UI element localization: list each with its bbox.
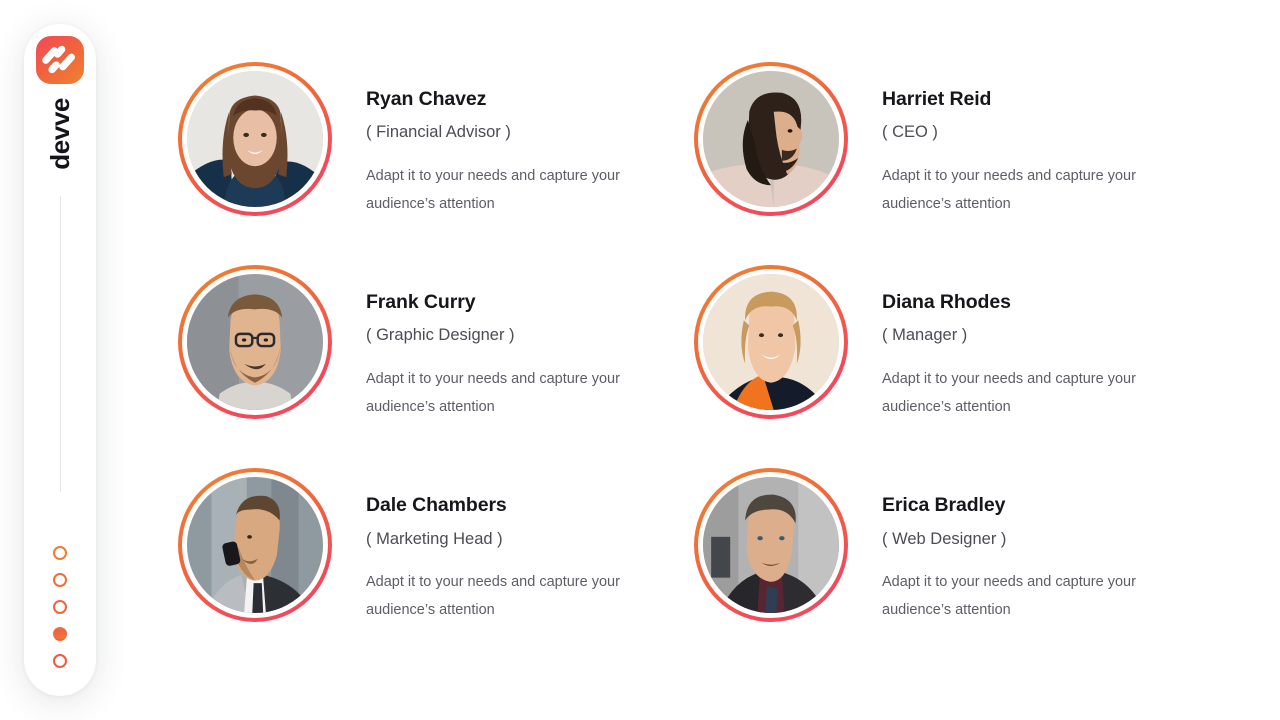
avatar-photo-dale-chambers [187, 477, 323, 613]
avatar-ring [694, 62, 848, 216]
brand-name: devve [47, 98, 73, 170]
avatar-gap [698, 269, 844, 415]
sidebar-rail: devve [24, 24, 96, 696]
member-info: Dale Chambers ( Marketing Head ) Adapt i… [366, 468, 666, 625]
member-info: Ryan Chavez ( Financial Advisor ) Adapt … [366, 62, 666, 219]
member-description: Adapt it to your needs and capture your … [882, 163, 1182, 219]
member-info: Frank Curry ( Graphic Designer ) Adapt i… [366, 265, 666, 422]
member-name: Diana Rhodes [882, 291, 1182, 313]
pagination-dot-2[interactable] [53, 573, 67, 587]
avatar-ring [694, 265, 848, 419]
member-role: ( Marketing Head ) [366, 530, 666, 549]
avatar-photo-ryan-chavez [187, 71, 323, 207]
team-member-card[interactable]: Diana Rhodes ( Manager ) Adapt it to you… [694, 265, 1210, 422]
avatar-ring [178, 265, 332, 419]
member-info: Harriet Reid ( CEO ) Adapt it to your ne… [882, 62, 1182, 219]
team-member-card[interactable]: Erica Bradley ( Web Designer ) Adapt it … [694, 468, 1210, 625]
member-info: Diana Rhodes ( Manager ) Adapt it to you… [882, 265, 1182, 422]
member-description: Adapt it to your needs and capture your … [882, 569, 1182, 625]
avatar-ring [178, 468, 332, 622]
member-role: ( Manager ) [882, 326, 1182, 345]
member-description: Adapt it to your needs and capture your … [882, 366, 1182, 422]
avatar-photo-frank-curry [187, 274, 323, 410]
avatar-gap [182, 269, 328, 415]
member-description: Adapt it to your needs and capture your … [366, 366, 666, 422]
pagination-dot-5[interactable] [53, 654, 67, 668]
team-member-card[interactable]: Frank Curry ( Graphic Designer ) Adapt i… [178, 265, 694, 422]
pagination-dots [53, 546, 67, 668]
avatar-photo-diana-rhodes [703, 274, 839, 410]
member-info: Erica Bradley ( Web Designer ) Adapt it … [882, 468, 1182, 625]
team-members-grid: Ryan Chavez ( Financial Advisor ) Adapt … [178, 62, 1258, 625]
vertical-divider [60, 196, 61, 492]
member-name: Dale Chambers [366, 494, 666, 516]
avatar-gap [182, 472, 328, 618]
member-role: ( Financial Advisor ) [366, 123, 666, 142]
member-name: Frank Curry [366, 291, 666, 313]
member-name: Ryan Chavez [366, 88, 666, 110]
avatar-gap [698, 472, 844, 618]
pagination-dot-4-active[interactable] [53, 627, 67, 641]
avatar-photo-erica-bradley [703, 477, 839, 613]
avatar-gap [698, 66, 844, 212]
member-name: Erica Bradley [882, 494, 1182, 516]
avatar-photo-harriet-reid [703, 71, 839, 207]
devve-logo-icon[interactable] [36, 36, 84, 84]
pagination-dot-3[interactable] [53, 600, 67, 614]
member-role: ( Graphic Designer ) [366, 326, 666, 345]
avatar-ring [694, 468, 848, 622]
member-description: Adapt it to your needs and capture your … [366, 163, 666, 219]
member-role: ( Web Designer ) [882, 530, 1182, 549]
member-role: ( CEO ) [882, 123, 1182, 142]
team-member-card[interactable]: Ryan Chavez ( Financial Advisor ) Adapt … [178, 62, 694, 219]
team-member-card[interactable]: Harriet Reid ( CEO ) Adapt it to your ne… [694, 62, 1210, 219]
pagination-dot-1[interactable] [53, 546, 67, 560]
avatar-gap [182, 66, 328, 212]
avatar-ring [178, 62, 332, 216]
member-description: Adapt it to your needs and capture your … [366, 569, 666, 625]
team-member-card[interactable]: Dale Chambers ( Marketing Head ) Adapt i… [178, 468, 694, 625]
member-name: Harriet Reid [882, 88, 1182, 110]
